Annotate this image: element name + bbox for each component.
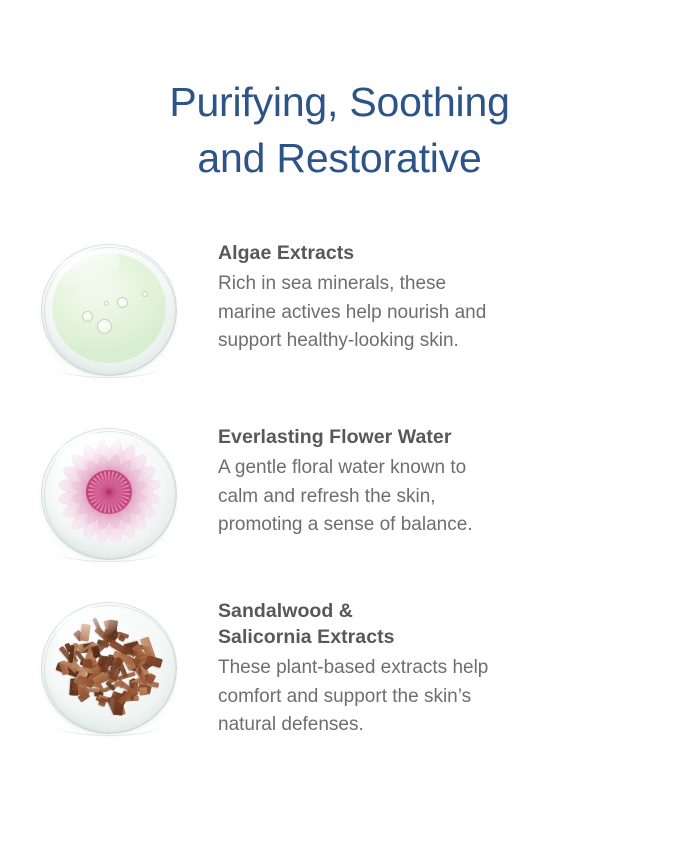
ingredient-title-line: Algae Extracts: [218, 240, 619, 266]
ingredient-description-line: Rich in sea minerals, these: [218, 270, 619, 299]
ingredient-image-cell: [0, 424, 218, 560]
ingredient-row-algae-extracts: Algae Extracts Rich in sea minerals, the…: [0, 240, 679, 376]
ingredient-description: A gentle floral water known to calm and …: [218, 454, 619, 540]
ingredient-title: Everlasting Flower Water: [218, 424, 619, 450]
ingredient-description-line: promoting a sense of balance.: [218, 511, 619, 540]
ingredient-benefits-panel: Purifying, Soothing and Restorative: [0, 0, 679, 849]
ingredient-description: These plant-based extracts help comfort …: [218, 654, 619, 740]
ingredient-row-sandalwood-salicornia-extracts: Sandalwood & Salicornia Extracts These p…: [0, 598, 679, 740]
page-title-line-2: and Restorative: [0, 130, 679, 186]
ingredient-description-line: marine actives help nourish and: [218, 299, 619, 328]
ingredient-image-cell: [0, 240, 218, 376]
ingredient-title: Sandalwood & Salicornia Extracts: [218, 598, 619, 650]
petri-dish-pink-flower-icon: [41, 428, 177, 560]
ingredient-title-line: Everlasting Flower Water: [218, 424, 619, 450]
page-title-line-1: Purifying, Soothing: [0, 74, 679, 130]
dish-inner-rim: [44, 247, 176, 375]
ingredient-title-line: Sandalwood &: [218, 598, 619, 624]
ingredient-description-line: natural defenses.: [218, 711, 619, 740]
page-title: Purifying, Soothing and Restorative: [0, 74, 679, 186]
ingredient-description-line: support healthy-looking skin.: [218, 327, 619, 356]
petri-dish-green-gel-icon: [41, 244, 177, 376]
ingredient-description-line: These plant-based extracts help: [218, 654, 619, 683]
ingredient-text-cell: Everlasting Flower Water A gentle floral…: [218, 424, 679, 540]
ingredient-title-line: Salicornia Extracts: [218, 624, 619, 650]
ingredient-description-line: A gentle floral water known to: [218, 454, 619, 483]
ingredient-description: Rich in sea minerals, these marine activ…: [218, 270, 619, 356]
ingredient-text-cell: Algae Extracts Rich in sea minerals, the…: [218, 240, 679, 356]
ingredient-title: Algae Extracts: [218, 240, 619, 266]
ingredient-description-line: calm and refresh the skin,: [218, 483, 619, 512]
petri-dish-sandalwood-chips-icon: [41, 602, 177, 734]
dish-inner-rim: [44, 431, 176, 559]
ingredient-image-cell: [0, 598, 218, 734]
ingredient-text-cell: Sandalwood & Salicornia Extracts These p…: [218, 598, 679, 740]
ingredient-row-everlasting-flower-water: Everlasting Flower Water A gentle floral…: [0, 424, 679, 560]
ingredient-description-line: comfort and support the skin’s: [218, 683, 619, 712]
dish-inner-rim: [44, 605, 176, 733]
